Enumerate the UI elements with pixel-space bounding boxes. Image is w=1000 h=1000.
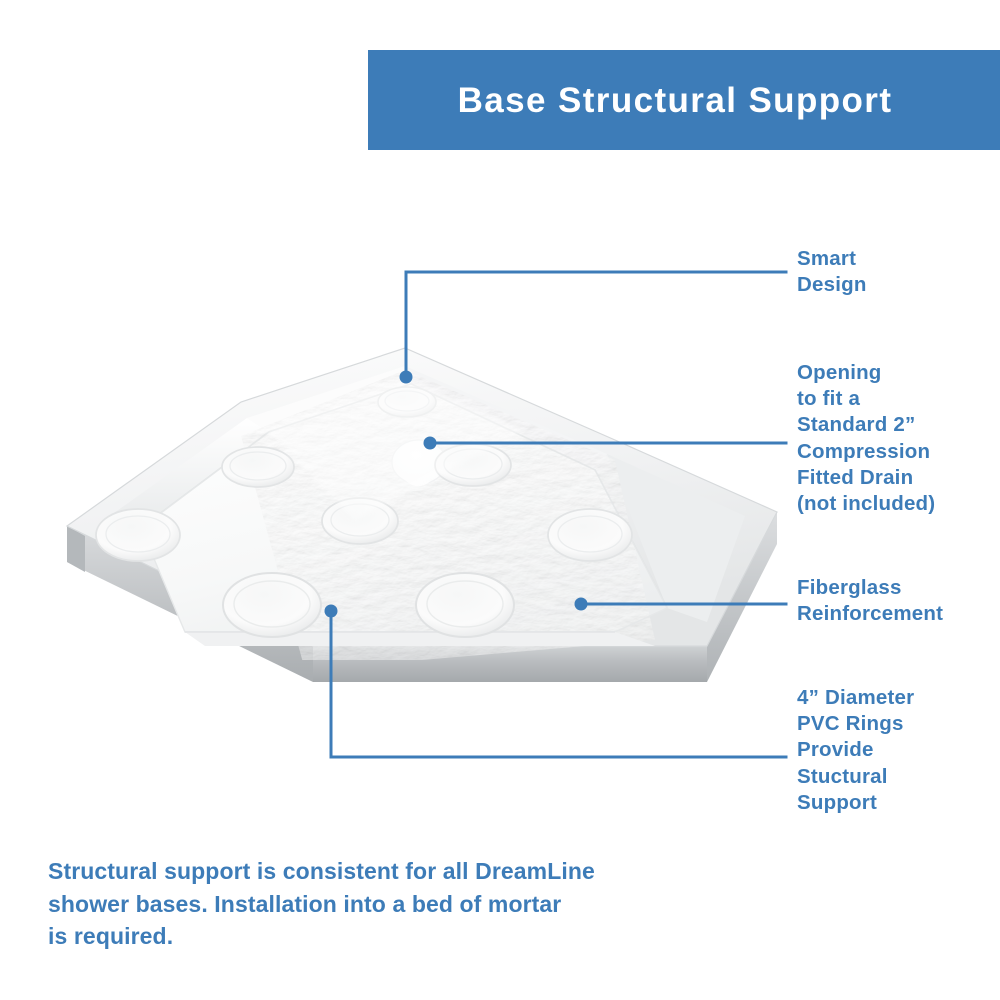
header-banner: Base Structural Support [368,50,1000,150]
shower-base-illustration [55,340,815,770]
page-title: Base Structural Support [458,83,893,118]
callout-label-smart-design: Smart Design [797,246,997,298]
pvc-ring [223,573,321,637]
pvc-ring [96,509,180,561]
pvc-ring [222,447,294,487]
product-image [55,340,815,770]
pvc-ring [548,509,632,561]
callout-label-drain-opening: Opening to fit a Standard 2” Compression… [797,360,1000,517]
callout-label-pvc-rings: 4” Diameter PVC Rings Provide Stuctural … [797,685,997,816]
pvc-ring [416,573,514,637]
callout-label-fiberglass: Fiberglass Reinforcement [797,575,1000,627]
footer-note: Structural support is consistent for all… [48,855,688,953]
